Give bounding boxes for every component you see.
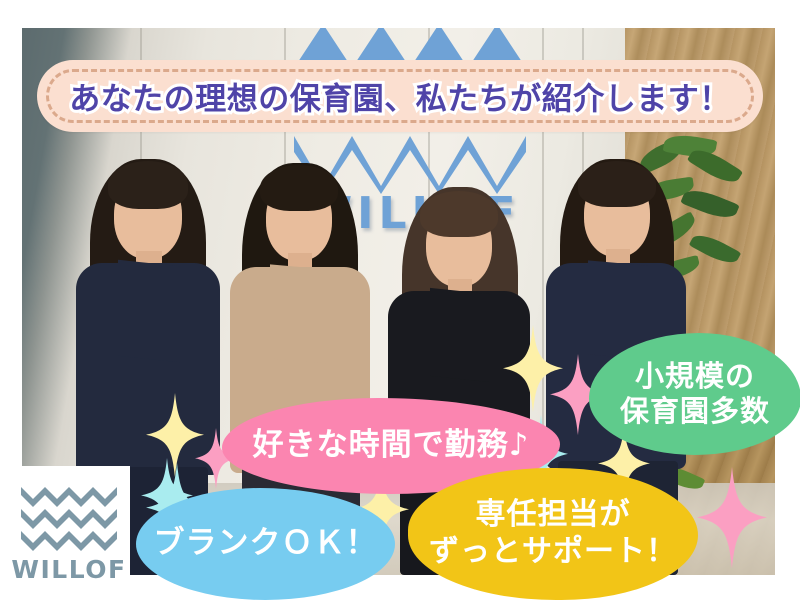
bubble-small-nursery: 小規模の 保育園多数 — [589, 333, 800, 455]
headline-text: あなたの理想の保育園、私たちが紹介します！ — [37, 74, 763, 119]
bubble-blank-ok-text: ブランクＯＫ！ — [154, 525, 378, 563]
headline-banner: あなたの理想の保育園、私たちが紹介します！ — [37, 60, 763, 132]
bubble-blank-ok: ブランクＯＫ！ — [136, 488, 395, 600]
bubble-dedicated-support-line1: 専任担当が — [429, 497, 677, 534]
brand-logo-text: WILLOF — [11, 557, 126, 582]
zigzag-wave-mark-icon — [21, 485, 117, 551]
bubble-dedicated-support-line2: ずっとサポート！ — [429, 534, 677, 571]
bubble-flexible-hours-text: 好きな時間で勤務♪ — [253, 427, 530, 465]
bubble-small-nursery-line1: 小規模の — [620, 359, 770, 394]
ad-canvas: WILLOF — [0, 0, 800, 600]
sparkle-pink-right-icon — [697, 467, 767, 569]
bubble-dedicated-support: 専任担当が ずっとサポート！ — [408, 468, 698, 600]
bubble-small-nursery-line2: 保育園多数 — [620, 394, 770, 429]
brand-logo: WILLOF — [8, 466, 130, 600]
